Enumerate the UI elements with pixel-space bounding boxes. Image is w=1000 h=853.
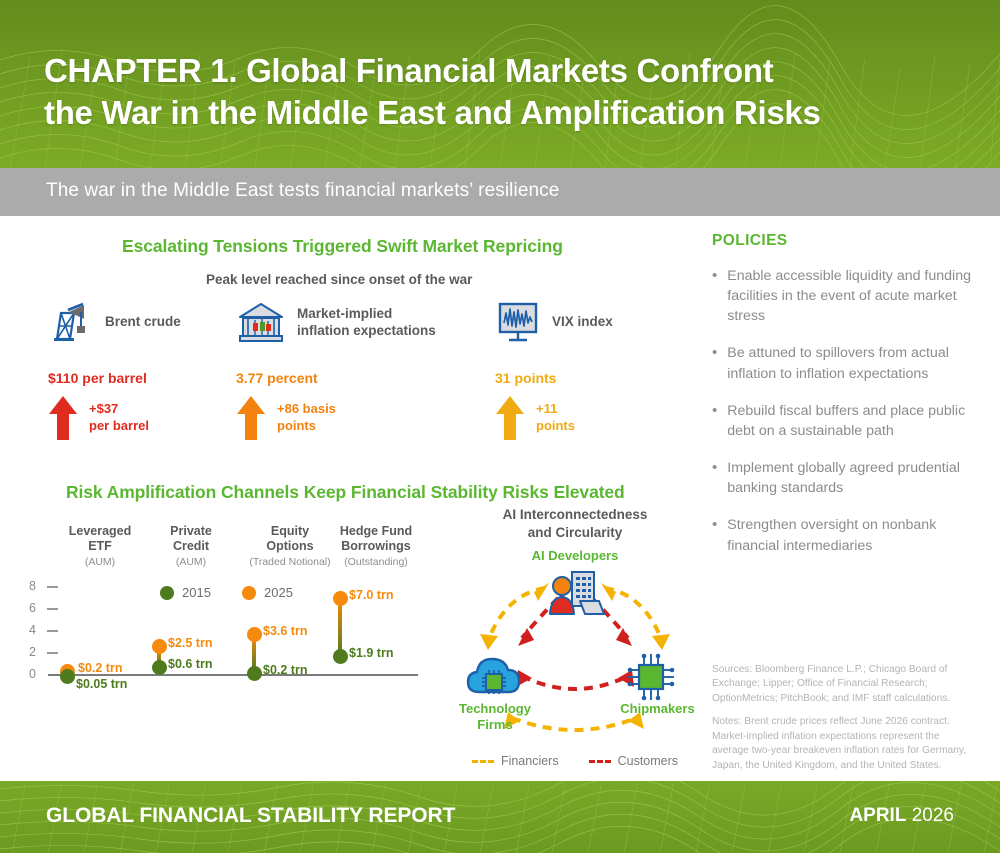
node-label-ai-developers: AI Developers <box>500 548 650 564</box>
chart-point-2025 <box>152 639 167 654</box>
y-axis-tick-mark <box>47 652 58 654</box>
footer-date: APRIL 2026 <box>849 805 954 827</box>
volatility-monitor-icon <box>495 299 541 345</box>
indicator-label-line1: VIX index <box>552 314 613 329</box>
policy-text: Implement globally agreed prudential ban… <box>727 458 974 498</box>
indicator-label-line1: Brent crude <box>105 314 181 329</box>
policy-list-item: • Enable accessible liquidity and fundin… <box>712 266 974 326</box>
indicator-delta: +$37 per barrel <box>89 401 149 434</box>
sources-text: Sources: Bloomberg Finance L.P.; Chicago… <box>712 663 977 706</box>
y-axis-tick-mark <box>47 608 58 610</box>
footer-year: 2026 <box>912 805 954 826</box>
chart-point-2025 <box>247 627 262 642</box>
indicator-delta-line1: +11 <box>536 401 557 416</box>
y-axis-tick-label: 2 <box>29 645 36 659</box>
indicator-delta-row: +86 basis points <box>236 395 436 441</box>
bullet-icon: • <box>712 266 717 326</box>
chart-point-label-2025: $7.0 trn <box>349 588 393 602</box>
indicator-vix-index: VIX index 31 points +11 points <box>495 296 613 441</box>
policy-list-item: • Rebuild fiscal buffers and place publi… <box>712 401 974 441</box>
chart-point-label-2015: $0.05 trn <box>76 677 127 691</box>
chart-category-header: Hedge Fund Borrowings (Outstanding) <box>321 524 431 569</box>
indicator-label-line2: inflation expectations <box>297 323 436 338</box>
chart-point-label-2025: $2.5 trn <box>168 636 212 650</box>
policy-text: Be attuned to spillovers from actual inf… <box>727 343 974 383</box>
legend-label-2025: 2025 <box>264 585 293 600</box>
infographic-page: CHAPTER 1. Global Financial Markets Conf… <box>0 0 1000 853</box>
chart-legend-2025: 2025 <box>242 585 293 600</box>
ai-interconnectedness-diagram: AI Interconnectedness and Circularity AI… <box>440 506 710 781</box>
arrow-up-icon <box>495 395 525 441</box>
indicator-value: 3.77 percent <box>236 370 436 386</box>
cloud-chip-icon <box>466 654 522 698</box>
indicator-delta-line1: +$37 <box>89 401 118 416</box>
diagram-legend: Financiers Customers <box>440 754 710 768</box>
arrow-up-icon <box>236 395 266 441</box>
indicator-label: VIX index <box>552 313 613 330</box>
header-title-line1: CHAPTER 1. Global Financial Markets Conf… <box>44 52 773 89</box>
y-axis-tick-mark <box>47 586 58 588</box>
indicator-delta-line2: per barrel <box>89 418 149 433</box>
dashed-line-swatch-customers <box>589 760 611 763</box>
chart-point-label-2025: $0.2 trn <box>78 661 122 675</box>
chart-point-2015 <box>152 660 167 675</box>
indicator-value: 31 points <box>495 370 613 386</box>
indicator-label-line1: Market-implied <box>297 306 392 321</box>
chart-point-2015 <box>60 669 75 684</box>
chart-point-label-2025: $3.6 trn <box>263 624 307 638</box>
chart-point-label-2015: $1.9 trn <box>349 646 393 660</box>
chart-point-2015 <box>333 649 348 664</box>
y-axis-tick-label: 6 <box>29 601 36 615</box>
microchip-icon <box>625 651 677 701</box>
indicator-label: Market-implied inflation expectations <box>297 305 436 340</box>
policy-list-item: • Be attuned to spillovers from actual i… <box>712 343 974 383</box>
indicator-header: VIX index <box>495 296 613 348</box>
bullet-icon: • <box>712 515 717 555</box>
bullet-icon: • <box>712 343 717 383</box>
chart-point-2015 <box>247 666 262 681</box>
diagram-legend-label: Financiers <box>501 754 559 768</box>
chart-category-header: Private Credit (AUM) <box>147 524 235 569</box>
indicator-label: Brent crude <box>105 313 181 330</box>
header-banner: CHAPTER 1. Global Financial Markets Conf… <box>0 0 1000 168</box>
y-axis-tick-label: 4 <box>29 623 36 637</box>
chart-point-label-2015: $0.6 trn <box>168 657 212 671</box>
subtitle-text: The war in the Middle East tests financi… <box>46 180 559 202</box>
header-title-line2: the War in the Middle East and Amplifica… <box>44 94 821 131</box>
indicator-header: Market-implied inflation expectations <box>236 296 436 348</box>
page-title: CHAPTER 1. Global Financial Markets Conf… <box>44 50 974 134</box>
policy-text: Enable accessible liquidity and funding … <box>727 266 974 326</box>
legend-swatch-2015 <box>160 586 174 600</box>
arrow-up-icon <box>48 395 78 441</box>
oil-pumpjack-icon <box>48 299 94 345</box>
policies-title: POLICIES <box>712 232 974 250</box>
bullet-icon: • <box>712 401 717 441</box>
escalating-tensions-title: Escalating Tensions Triggered Swift Mark… <box>122 236 563 257</box>
diagram-legend-financiers: Financiers <box>472 754 559 768</box>
diagram-legend-customers: Customers <box>589 754 678 768</box>
node-label-technology-firms: Technology Firms <box>440 701 550 732</box>
chart-point-label-2015: $0.2 trn <box>263 663 307 677</box>
y-axis-tick-mark <box>47 630 58 632</box>
node-label-chipmakers: Chipmakers <box>605 701 710 717</box>
diagram-legend-label: Customers <box>618 754 678 768</box>
y-axis-tick-label: 0 <box>29 667 36 681</box>
indicator-delta-line1: +86 basis <box>277 401 336 416</box>
indicator-delta: +86 basis points <box>277 401 336 434</box>
sources-and-notes: Sources: Bloomberg Finance L.P.; Chicago… <box>712 663 977 782</box>
indicator-delta-line2: points <box>536 418 575 433</box>
chart-category-header: Leveraged ETF (AUM) <box>56 524 144 569</box>
subtitle-band: The war in the Middle East tests financi… <box>0 168 1000 216</box>
indicator-delta-row: +$37 per barrel <box>48 395 181 441</box>
legend-swatch-2025 <box>242 586 256 600</box>
legend-label-2015: 2015 <box>182 585 211 600</box>
risk-amplification-title: Risk Amplification Channels Keep Financi… <box>66 482 625 503</box>
policies-panel: POLICIES • Enable accessible liquidity a… <box>712 232 974 573</box>
footer-report-title: GLOBAL FINANCIAL STABILITY REPORT <box>46 804 455 828</box>
diagram-title: AI Interconnectedness and Circularity <box>440 506 710 541</box>
footer-month: APRIL <box>849 805 906 826</box>
office-person-icon <box>547 570 605 620</box>
policy-list-item: • Strengthen oversight on nonbank financ… <box>712 515 974 555</box>
indicator-delta-row: +11 points <box>495 395 613 441</box>
content-area: Escalating Tensions Triggered Swift Mark… <box>0 216 1000 781</box>
indicator-market-implied-inflation: Market-implied inflation expectations 3.… <box>236 296 436 441</box>
indicator-brent-crude: Brent crude $110 per barrel +$37 per bar… <box>48 296 181 441</box>
risk-amplification-chart: Leveraged ETF (AUM) Private Credit (AUM)… <box>20 506 440 756</box>
policy-text: Rebuild fiscal buffers and place public … <box>727 401 974 441</box>
indicator-header: Brent crude <box>48 296 181 348</box>
chart-legend-2015: 2015 <box>160 585 211 600</box>
footer-banner: GLOBAL FINANCIAL STABILITY REPORT APRIL … <box>0 781 1000 853</box>
policy-list-item: • Implement globally agreed prudential b… <box>712 458 974 498</box>
policies-list: • Enable accessible liquidity and fundin… <box>712 266 974 556</box>
indicator-value: $110 per barrel <box>48 370 181 386</box>
indicator-delta: +11 points <box>536 401 575 434</box>
bullet-icon: • <box>712 458 717 498</box>
notes-text: Notes: Brent crude prices reflect June 2… <box>712 715 977 773</box>
policy-text: Strengthen oversight on nonbank financia… <box>727 515 974 555</box>
peak-level-subtitle: Peak level reached since onset of the wa… <box>206 272 472 287</box>
indicator-delta-line2: points <box>277 418 316 433</box>
chart-point-2025 <box>333 591 348 606</box>
bank-candlestick-icon <box>236 299 286 345</box>
y-axis-tick-label: 8 <box>29 579 36 593</box>
dashed-line-swatch-financiers <box>472 760 494 763</box>
